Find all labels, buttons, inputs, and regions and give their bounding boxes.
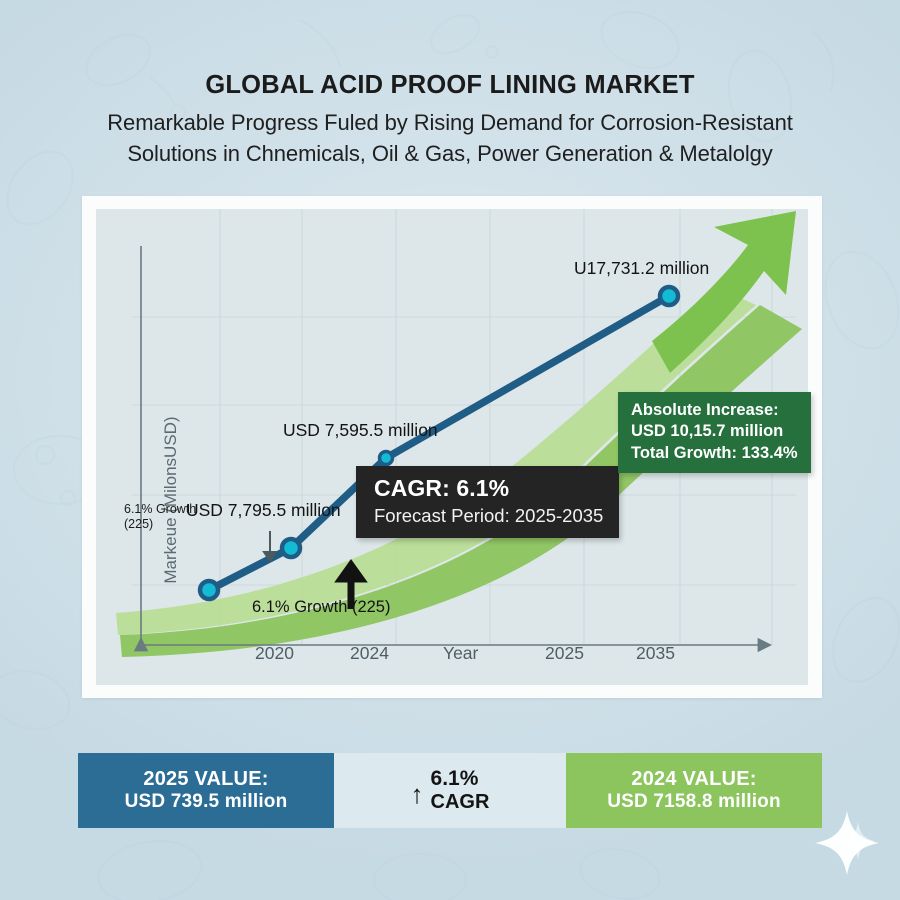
stat-left-label: 2025 VALUE:	[143, 768, 268, 792]
subtitle-line-2: Solutions in Chnemicals, Oil & Gas, Powe…	[0, 138, 900, 169]
absolute-increase-callout: Absolute Increase: USD 10,15.7 million T…	[618, 392, 811, 473]
page-subtitle: Remarkable Progress Fuled by Rising Dema…	[0, 107, 900, 169]
stat-2024-value: 2024 VALUE: USD 7158.8 million	[566, 753, 822, 828]
stat-cagr-label: CAGR	[431, 791, 490, 814]
sparkle-icon	[812, 808, 882, 878]
x-tick-2035: 2035	[636, 643, 675, 664]
data-label-2025: USD 7,595.5 million	[283, 420, 438, 441]
absolute-increase-value: USD 10,15.7 million	[631, 421, 798, 442]
total-growth-value: Total Growth: 133.4%	[631, 443, 798, 464]
stat-cagr: ↑ 6.1% CAGR	[334, 753, 566, 828]
x-axis-title: Year	[443, 643, 478, 664]
up-arrow-icon: ↑	[411, 781, 424, 807]
stat-right-value: USD 7158.8 million	[607, 791, 781, 813]
stat-left-value: USD 739.5 million	[125, 791, 288, 813]
data-label-2035: U17,731.2 million	[574, 258, 709, 279]
cagr-value: CAGR: 6.1%	[374, 475, 603, 502]
subtitle-line-1: Remarkable Progress Fuled by Rising Dema…	[0, 107, 900, 138]
page-title: GLOBAL ACID PROOF LINING MARKET	[0, 72, 900, 100]
stat-right-label: 2024 VALUE:	[631, 768, 756, 792]
stats-strip: 2025 VALUE: USD 739.5 million ↑ 6.1% CAG…	[78, 753, 822, 828]
absolute-increase-title: Absolute Increase:	[631, 400, 798, 421]
stat-cagr-percent: 6.1%	[431, 767, 479, 791]
x-tick-2020: 2020	[255, 643, 294, 664]
growth-down-arrow-icon	[264, 531, 276, 561]
data-label-2024: USD 7,795.5 million	[186, 500, 341, 521]
stat-2025-value: 2025 VALUE: USD 739.5 million	[78, 753, 334, 828]
cagr-period: Forecast Period: 2025-2035	[374, 504, 603, 527]
growth-annotation-bottom: 6.1% Growth (225)	[252, 598, 390, 617]
y-axis-title: Markeue (MilonsUSD)	[161, 390, 181, 610]
cagr-callout: CAGR: 6.1% Forecast Period: 2025-2035	[356, 466, 619, 538]
x-tick-2024: 2024	[350, 643, 389, 664]
x-tick-2025: 2025	[545, 643, 584, 664]
stat-cagr-text: 6.1% CAGR	[431, 767, 490, 814]
growth-annotation-left: 6.1% Growth (225)	[124, 502, 196, 533]
header: GLOBAL ACID PROOF LINING MARKET Remarkab…	[0, 72, 900, 169]
growth-left-line-1: 6.1% Growth	[124, 502, 196, 517]
growth-left-line-2: (225)	[124, 517, 196, 532]
